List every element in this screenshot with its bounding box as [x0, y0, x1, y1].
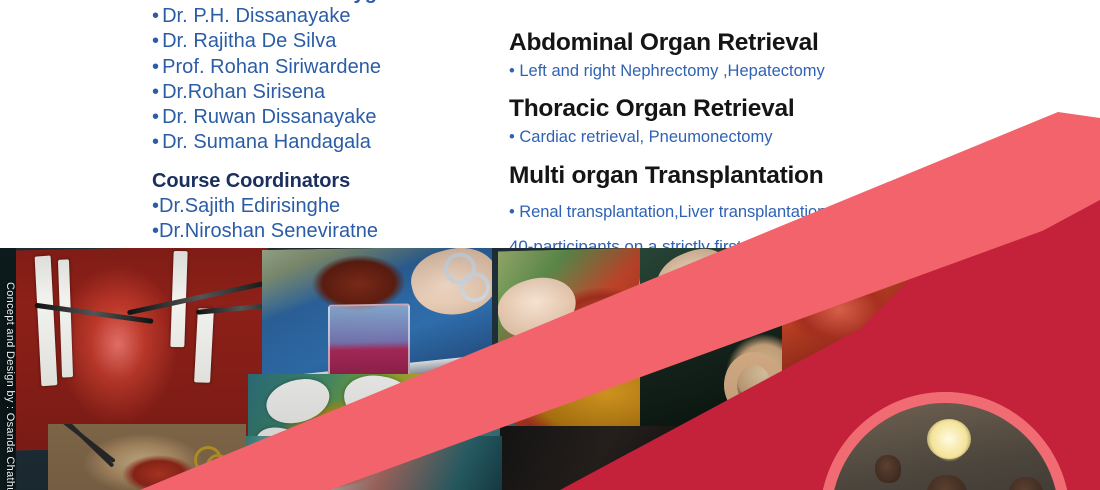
collage-photo-open-chest	[0, 248, 268, 451]
programme-heading: Abdominal Organ Retrieval	[509, 28, 1029, 58]
faculty-name: Prof. Rohan Siriwardene	[162, 56, 381, 78]
scissors-icon	[206, 454, 230, 478]
faculty-list-item: •Dr. Ruwan Dissanayake	[152, 105, 482, 130]
circular-photo-badge-top	[820, 392, 1070, 490]
circle-photo-theatre	[831, 403, 1059, 490]
programme-block-thoracic: Thoracic Organ Retrieval • Cardiac retri…	[509, 94, 1029, 148]
programme-heading: Thoracic Organ Retrieval	[509, 94, 1029, 124]
photo-fill	[500, 426, 700, 490]
programme-heading: Multi organ Transplantation	[509, 161, 1029, 191]
faculty-list-item: •Dr.Rohan Sirisena	[152, 80, 482, 105]
faculty-name: Dr. P.H. Dissanayake	[162, 5, 351, 27]
course-coordinators-heading: Course Coordinators	[152, 168, 482, 194]
programme-block-multiorgan: Multi organ Transplantation • Renal tran…	[509, 161, 1029, 223]
gloved-hand-ok-sign	[724, 352, 784, 418]
bullet-icon: •	[152, 81, 159, 103]
faculty-list-item: •Dr. Sumana Handagala	[152, 130, 482, 155]
programme-block-abdominal: Abdominal Organ Retrieval • Left and rig…	[509, 28, 1029, 82]
faculty-list-item: •Prof. Rohan Siriwardene	[152, 55, 482, 80]
faculty-name: Dr.Rohan Sirisena	[162, 81, 325, 103]
operating-lamp-icon	[927, 419, 971, 459]
collage-photo-dark-field	[500, 426, 700, 490]
programme-column: Abdominal Organ Retrieval • Left and rig…	[509, 28, 1029, 258]
designer-credit-text: Concept and Design by : Osanda Chathu	[0, 282, 16, 490]
poster-canvas: Prof. Anuruddha Abeygunasekara •Dr. P.H.…	[0, 0, 1100, 490]
programme-detail: • Cardiac retrieval, Pneumonectomy	[509, 126, 1029, 148]
collage-photo-back-table	[48, 424, 246, 490]
coordinator-list-item: •Dr.Sajith Edirisinghe	[152, 194, 482, 220]
faculty-name: Dr. Ruwan Dissanayake	[162, 106, 376, 128]
coordinator-list-item: •Dr.Niroshan Seneviratne	[152, 219, 482, 245]
bullet-icon: •	[152, 5, 159, 27]
bullet-icon: •	[152, 56, 159, 78]
top-text-area: Prof. Anuruddha Abeygunasekara •Dr. P.H.…	[0, 0, 1100, 248]
faculty-name: Dr. Sumana Handagala	[162, 131, 371, 153]
faculty-name: Dr. Rajitha De Silva	[162, 30, 336, 52]
faculty-list-item: •Dr. P.H. Dissanayake	[152, 4, 482, 29]
faculty-column: Prof. Anuruddha Abeygunasekara •Dr. P.H.…	[152, 0, 482, 245]
bullet-icon: •	[152, 30, 159, 52]
bullet-icon: •	[152, 131, 159, 153]
faculty-list-item: •Dr. Rajitha De Silva	[152, 29, 482, 54]
programme-detail: • Renal transplantation,Liver transplant…	[509, 201, 1029, 223]
person-head	[875, 455, 901, 483]
person-head	[1009, 477, 1043, 490]
bullet-icon: •	[152, 106, 159, 128]
programme-detail: • Left and right Nephrectomy ,Hepatectom…	[509, 60, 1029, 82]
person-head	[927, 475, 967, 490]
